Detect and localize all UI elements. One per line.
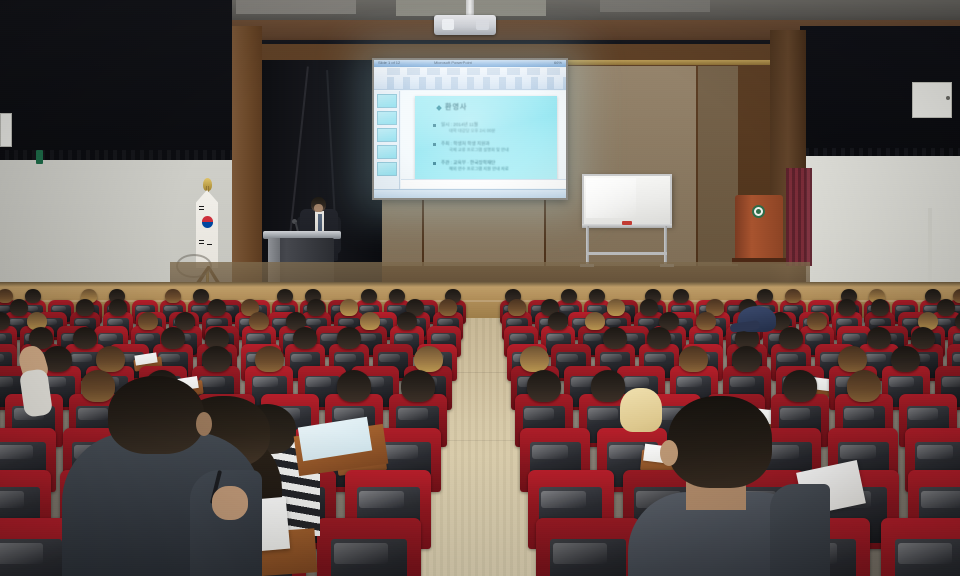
- wall-speaker-dot: [946, 96, 950, 100]
- person-hand: [212, 486, 248, 520]
- ppt-zoom-label: 66%: [554, 60, 562, 65]
- ceiling-panel: [600, 0, 710, 12]
- audience-member-head: [847, 370, 882, 402]
- audience-member-head: [439, 299, 457, 316]
- audience-member-head: [937, 299, 955, 316]
- audience-member-head: [193, 289, 209, 303]
- projector-vent: [476, 19, 489, 30]
- audience-member-head: [96, 346, 125, 372]
- seat-gloss: [784, 306, 798, 311]
- seat-gloss: [334, 543, 388, 564]
- auditorium-scene: Microsoft PowerPoint 환영사 일시 : 2014년 11월: [0, 0, 960, 576]
- seat-gloss: [276, 306, 290, 311]
- audience-member-head: [293, 327, 317, 349]
- audience-member-head: [696, 312, 716, 331]
- whiteboard-leg: [664, 226, 667, 266]
- audience-member-head: [783, 370, 818, 402]
- seat-gloss: [645, 354, 666, 362]
- seat-gloss: [0, 306, 10, 311]
- audience-member-head: [757, 289, 773, 303]
- wall-speaker-icon: [912, 82, 952, 118]
- seat-gloss: [438, 319, 454, 325]
- audience-member-head: [337, 370, 372, 402]
- seat-gloss: [588, 306, 602, 311]
- audience-member-head: [520, 346, 549, 372]
- seat-gloss: [730, 377, 755, 387]
- trigram-bar: [199, 240, 204, 241]
- audience-member-head: [807, 312, 827, 331]
- slide-thumbnail: [377, 111, 397, 125]
- wall-fixture-left: [0, 113, 12, 147]
- side-drape-maroon: [786, 168, 812, 266]
- audience-member-head: [591, 370, 626, 402]
- person-note-taker-head: [108, 376, 204, 454]
- audience-member-head: [307, 299, 325, 316]
- audience-member-head: [585, 312, 605, 331]
- ppt-titlebar-label: Microsoft PowerPoint: [434, 60, 472, 65]
- audience-member-head: [25, 289, 41, 303]
- seal-center: [756, 209, 761, 214]
- seat-gloss: [780, 408, 810, 420]
- audience-member-head: [249, 312, 269, 331]
- auditorium-seat: [317, 518, 421, 576]
- whiteboard-crossbar: [586, 252, 667, 255]
- wall-panel: [546, 66, 696, 266]
- seat-gloss: [541, 491, 586, 508]
- seat-gloss: [953, 354, 960, 362]
- wood-pillar-left: [232, 26, 262, 288]
- person-yellow-coat: [620, 388, 662, 432]
- seat-gloss: [942, 377, 960, 387]
- current-slide: 환영사 일시 : 2014년 11월 대학 대강당 오후 2시 00분 주최 :…: [415, 96, 557, 182]
- trigram-bar: [207, 244, 212, 245]
- person-ear: [660, 440, 678, 466]
- seat-gloss: [889, 377, 914, 387]
- seat-gloss: [0, 354, 4, 362]
- stage-curtain-left: [0, 0, 232, 160]
- slide-title-bullet-icon: [436, 105, 442, 111]
- seat-gloss: [0, 543, 43, 564]
- audience-member-head: [785, 289, 801, 303]
- seat-gloss: [388, 306, 402, 311]
- seat-gloss: [71, 354, 92, 362]
- audience-member-head: [202, 346, 231, 372]
- slide-thumbnail: [377, 94, 397, 108]
- seat-gloss: [672, 306, 686, 311]
- slide-bullet-line2: 국제 교류 프로그램 설명회 및 안내: [449, 147, 509, 153]
- seat-gloss: [253, 377, 278, 387]
- seat-gloss: [812, 306, 826, 311]
- audience-member-head: [76, 299, 94, 316]
- seat-gloss: [917, 445, 953, 459]
- seat-gloss: [0, 445, 33, 459]
- bullet-square-icon: [433, 124, 436, 127]
- audience-member-head: [732, 346, 761, 372]
- seat-gloss: [584, 334, 602, 341]
- stage-edge-shadow: [0, 282, 960, 287]
- seat-gloss: [844, 408, 874, 420]
- ppt-slide-canvas: 환영사 일시 : 2014년 11월 대학 대강당 오후 2시 00분 주최 :…: [401, 91, 566, 189]
- exit-marker-icon: [36, 150, 43, 164]
- seat-gloss: [164, 306, 178, 311]
- audience-member-head: [109, 299, 127, 316]
- seat-gloss: [136, 334, 154, 341]
- audience-member-head: [871, 299, 889, 316]
- wall-panel: [698, 66, 738, 266]
- audience-member-head: [165, 289, 181, 303]
- projection-screen: Microsoft PowerPoint 환영사 일시 : 2014년 11월: [372, 58, 568, 200]
- audience-member-head: [208, 299, 226, 316]
- audience-member-head: [360, 312, 380, 331]
- seat-gloss: [200, 377, 225, 387]
- seat-gloss: [896, 306, 910, 311]
- seat-gloss: [624, 377, 649, 387]
- audience-member-head: [10, 299, 28, 316]
- seat-gloss: [840, 445, 876, 459]
- trigram-bar: [199, 209, 204, 210]
- seat-gloss: [360, 306, 374, 311]
- auditorium-seat: [881, 518, 960, 576]
- audience-member-head: [277, 289, 293, 303]
- person-arm: [770, 484, 830, 576]
- seat-gloss: [553, 543, 607, 564]
- audience-member-head: [389, 289, 405, 303]
- seat-gloss: [159, 354, 180, 362]
- seat-gloss: [78, 408, 108, 420]
- seat-gloss: [908, 408, 938, 420]
- audience-member-head: [867, 327, 891, 349]
- seat-gloss: [192, 306, 206, 311]
- slide-title: 환영사: [445, 102, 467, 112]
- audience-member-head: [779, 327, 803, 349]
- seat-gloss: [903, 319, 919, 325]
- seat-gloss: [606, 319, 622, 325]
- slide-thumbnail: [377, 162, 397, 176]
- seat-gloss: [335, 354, 356, 362]
- ppt-status-label: Slide 1 of 12: [378, 60, 400, 65]
- audience-member-head: [548, 312, 568, 331]
- audience-member-head: [73, 327, 97, 349]
- audience-member-head: [361, 289, 377, 303]
- presenter-face: [314, 204, 323, 212]
- seat-gloss: [339, 319, 355, 325]
- audience-member-head: [647, 327, 671, 349]
- bullet-square-icon: [433, 162, 436, 165]
- seat-gloss: [136, 306, 150, 311]
- audience-member-head: [397, 312, 417, 331]
- ppt-notes-pane: [401, 179, 566, 188]
- seat-gloss: [547, 334, 565, 341]
- audience-member-head: [508, 299, 526, 316]
- whiteboard-glare: [586, 178, 636, 218]
- seat-gloss: [510, 334, 528, 341]
- seat-gloss: [865, 354, 886, 362]
- person-foreground-right-head: [668, 396, 772, 488]
- audience-member-head: [838, 346, 867, 372]
- seat-gloss: [306, 377, 331, 387]
- audience-member-head: [589, 289, 605, 303]
- seat-gloss: [924, 306, 938, 311]
- audience-member-head: [603, 327, 627, 349]
- seat-gloss: [306, 319, 322, 325]
- seat-gloss: [398, 408, 428, 420]
- ppt-ribbon-tabs: [387, 68, 566, 75]
- seat-gloss: [75, 319, 91, 325]
- seat-gloss: [291, 354, 312, 362]
- bullet-square-icon: [433, 143, 436, 146]
- audience-member-head: [953, 289, 960, 303]
- trigram-bar: [199, 206, 204, 207]
- audience-member-head: [340, 299, 358, 316]
- ceiling-panel: [236, 0, 356, 14]
- whiteboard-marker-icon: [622, 221, 632, 225]
- audience-member-head: [911, 327, 935, 349]
- audience-member-head: [673, 289, 689, 303]
- seat-gloss: [9, 319, 25, 325]
- audience-member-head: [337, 327, 361, 349]
- audience-member-head: [891, 346, 920, 372]
- audience-member-head: [679, 346, 708, 372]
- seat-gloss: [560, 306, 574, 311]
- seat-gloss: [99, 334, 117, 341]
- audience-member-head: [81, 370, 116, 402]
- seat-gloss: [777, 354, 798, 362]
- trigram-bar: [199, 243, 204, 244]
- seat-gloss: [806, 334, 824, 341]
- slide-bullet-line2: 대학 대강당 오후 2시 00분: [449, 128, 495, 134]
- seat-gloss: [695, 334, 713, 341]
- seat-gloss: [557, 354, 578, 362]
- seat-gloss: [898, 543, 952, 564]
- seat-gloss: [677, 377, 702, 387]
- seat-gloss: [837, 319, 853, 325]
- seat-gloss: [609, 445, 645, 459]
- seat-gloss: [843, 334, 861, 341]
- auditorium-seat: [536, 518, 640, 576]
- person-ear: [196, 412, 212, 436]
- seat-gloss: [379, 354, 400, 362]
- audience-member-head: [561, 289, 577, 303]
- projector-lens-icon: [442, 19, 454, 30]
- audience-member-head: [838, 299, 856, 316]
- seat-gloss: [432, 334, 450, 341]
- whiteboard-leg: [586, 226, 589, 266]
- seat-gloss: [870, 319, 886, 325]
- audience-member-head: [138, 312, 158, 331]
- seat-gloss: [395, 334, 413, 341]
- slide-bullet-line2: 해외 연수 프로그램 지원 안내 자료: [449, 166, 509, 172]
- seat-gloss: [0, 491, 24, 508]
- audience-member-head: [527, 370, 562, 402]
- audience-member-head: [607, 299, 625, 316]
- audience-member-head: [161, 327, 185, 349]
- slide-thumbnail: [377, 128, 397, 142]
- seat-gloss: [588, 408, 618, 420]
- seat-gloss: [601, 354, 622, 362]
- slide-thumbnail: [377, 145, 397, 159]
- seat-gloss: [108, 319, 124, 325]
- seat-gloss: [954, 334, 960, 341]
- seat-gloss: [639, 319, 655, 325]
- seat-gloss: [524, 408, 554, 420]
- seat-gloss: [0, 334, 6, 341]
- seat-gloss: [0, 377, 13, 387]
- ppt-statusbar: [374, 189, 566, 198]
- audience-member-head: [640, 299, 658, 316]
- seat-gloss: [936, 319, 952, 325]
- audience-member-head: [255, 346, 284, 372]
- seat-gloss: [247, 334, 265, 341]
- seat-gloss: [507, 319, 523, 325]
- ppt-ribbon-icons: [387, 77, 566, 89]
- seat-gloss: [921, 491, 960, 508]
- seat-gloss: [52, 306, 66, 311]
- seat-gloss: [359, 491, 404, 508]
- seat-gloss: [207, 319, 223, 325]
- audience-member-head: [401, 370, 436, 402]
- screen-surface: Microsoft PowerPoint 환영사 일시 : 2014년 11월: [374, 60, 566, 198]
- audience-member-head: [414, 346, 443, 372]
- seat-gloss: [532, 445, 568, 459]
